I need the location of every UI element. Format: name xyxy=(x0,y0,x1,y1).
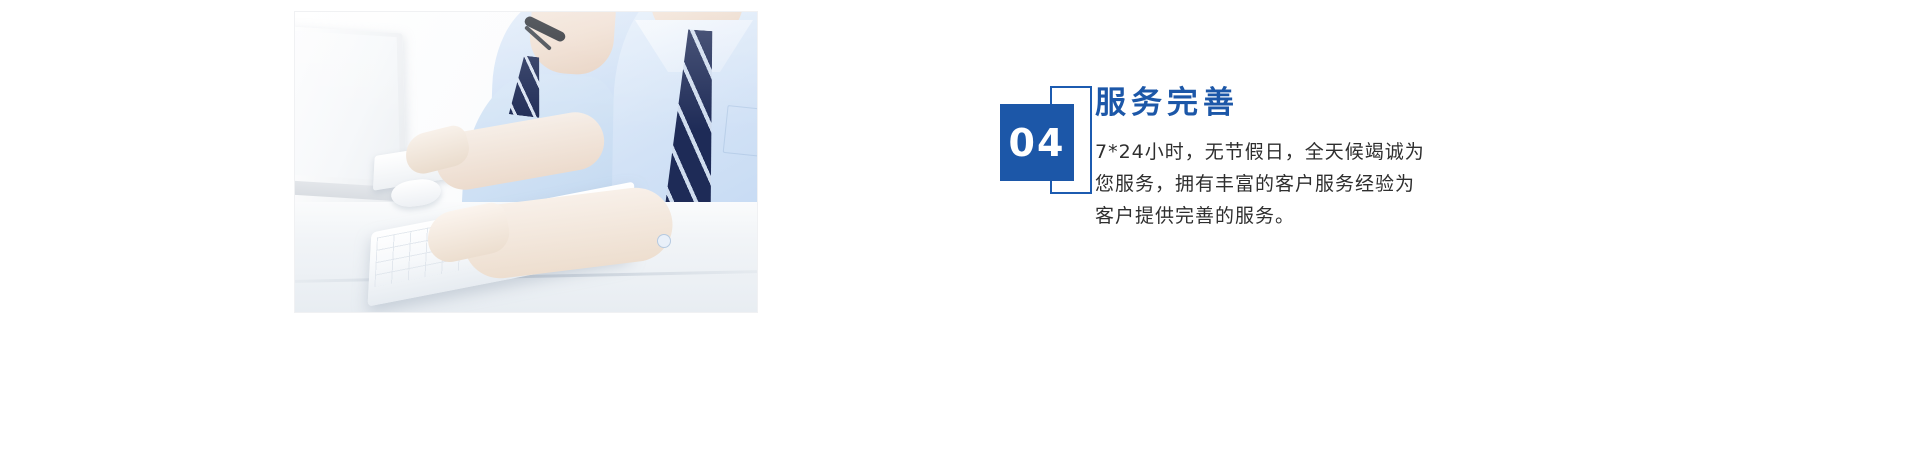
cuff-button xyxy=(657,234,671,248)
badge-number-text: 04 xyxy=(1000,104,1074,181)
shirt-pocket xyxy=(723,105,757,159)
photo-canvas xyxy=(295,12,757,312)
description-line-3: 客户提供完善的服务。 xyxy=(1095,200,1525,232)
description-line-1: 7*24小时，无节假日，全天候竭诚为 xyxy=(1095,136,1525,168)
feature-photo xyxy=(295,12,757,312)
feature-number-badge: 04 xyxy=(1000,86,1092,198)
description-line-2: 您服务，拥有丰富的客户服务经验为 xyxy=(1095,168,1525,200)
feature-title: 服务完善 xyxy=(1095,86,1525,120)
feature-text-column: 服务完善 7*24小时，无节假日，全天候竭诚为 您服务，拥有丰富的客户服务经验为… xyxy=(1095,86,1525,232)
feature-banner: 04 服务完善 7*24小时，无节假日，全天候竭诚为 您服务，拥有丰富的客户服务… xyxy=(0,0,1920,452)
feature-description: 7*24小时，无节假日，全天候竭诚为 您服务，拥有丰富的客户服务经验为 客户提供… xyxy=(1095,136,1525,232)
